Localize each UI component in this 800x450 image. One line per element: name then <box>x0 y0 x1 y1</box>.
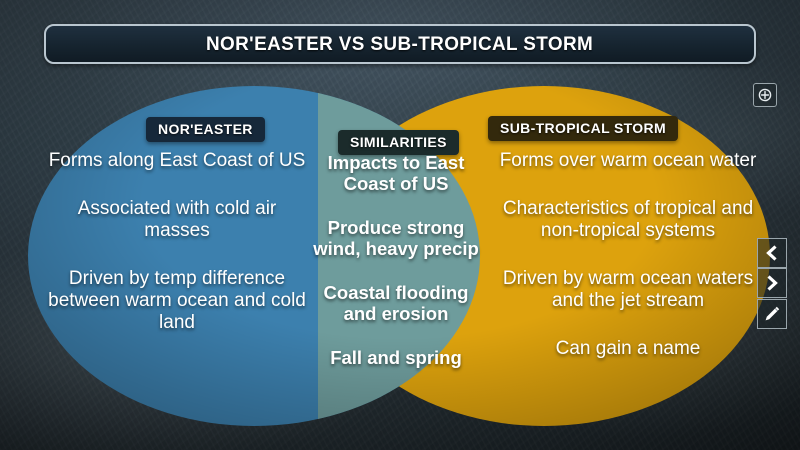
list-item: Driven by warm ocean waters and the jet … <box>494 268 762 312</box>
list-item: Fall and spring <box>308 347 484 368</box>
next-button[interactable] <box>757 268 787 298</box>
list-item: Produce strong wind, heavy precip <box>308 217 484 260</box>
list-item: Coastal flooding and erosion <box>308 282 484 325</box>
similarities-items: Impacts to East Coast of US Produce stro… <box>308 152 484 390</box>
zoom-in-icon[interactable] <box>753 83 777 107</box>
edit-pencil-icon[interactable] <box>757 299 787 329</box>
list-item: Driven by temp difference between warm o… <box>48 268 306 334</box>
sub-tropical-storm-items: Forms over warm ocean water Characterist… <box>494 150 762 386</box>
list-item: Impacts to East Coast of US <box>308 152 484 195</box>
previous-button[interactable] <box>757 238 787 268</box>
list-item: Can gain a name <box>494 338 762 360</box>
page-title: NOR'EASTER VS SUB-TROPICAL STORM <box>206 33 593 56</box>
list-item: Forms over warm ocean water <box>494 150 762 172</box>
list-item: Associated with cold air masses <box>48 198 306 242</box>
badge-sub-tropical-storm: SUB-TROPICAL STORM <box>488 116 678 141</box>
title-bar: NOR'EASTER VS SUB-TROPICAL STORM <box>44 24 756 64</box>
list-item: Forms along East Coast of US <box>48 150 306 172</box>
noreaster-items: Forms along East Coast of US Associated … <box>48 150 306 360</box>
badge-noreaster: NOR'EASTER <box>146 117 265 142</box>
list-item: Characteristics of tropical and non-trop… <box>494 198 762 242</box>
